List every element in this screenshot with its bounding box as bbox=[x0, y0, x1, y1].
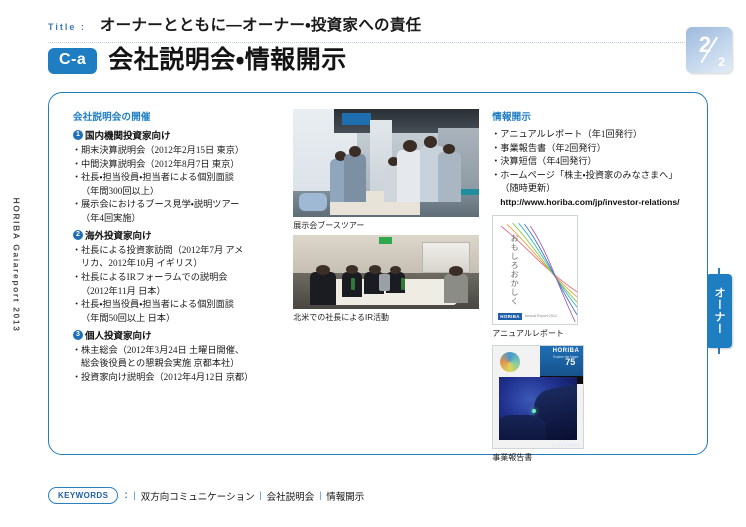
list-item: 中間決算説明会（2012年8月7日 東京） bbox=[73, 158, 285, 171]
group-title: 海外投資家向け bbox=[85, 228, 152, 242]
heading-row: C-a 会社説明会・情報開示 bbox=[48, 48, 347, 74]
title-row: Title : オーナーとともに―オーナー・投資家への責任 bbox=[48, 18, 421, 34]
list-item: （2012年11月 日本） bbox=[73, 285, 285, 298]
list-item: 社長による投資家訪問（2012年7月 アメ bbox=[73, 244, 285, 257]
list-item: アニュアルレポート（年1回発行） bbox=[492, 128, 689, 141]
list-item: 決算短信（年4回発行） bbox=[492, 155, 689, 168]
list-item: 社長・担当役員・担当者による個別面談 bbox=[73, 298, 285, 311]
keyword-item[interactable]: 双方向コミュニケーション bbox=[141, 489, 255, 503]
annual-report-cover-text: おもしろおかしく bbox=[509, 234, 518, 306]
keyword-item[interactable]: 会社説明会 bbox=[267, 489, 315, 503]
spine-publication-label: HORIBA Gaiareport 2013 bbox=[8, 190, 26, 340]
briefing-group-heading: 3個人投資家向け bbox=[73, 328, 285, 342]
list-item: ホームページ「株主・投資家のみなさまへ」（随時更新） bbox=[492, 169, 689, 195]
anniversary-number: 75 bbox=[565, 357, 575, 367]
group-number-badge: 2 bbox=[73, 230, 83, 240]
list-item: 社長によるIRフォーラムでの説明会 bbox=[73, 271, 285, 284]
keyword-separator: | bbox=[260, 491, 262, 501]
right-section-title: 情報開示 bbox=[492, 109, 689, 123]
title-label: Title : bbox=[48, 22, 86, 34]
business-report-footer-note: 株主各位 事業報告書 bbox=[551, 443, 579, 447]
keyword-separator: | bbox=[319, 491, 321, 501]
cover-landscape-photo bbox=[499, 377, 577, 440]
list-item: 事業報告書（年2回発行） bbox=[492, 142, 689, 155]
column-company-briefings: 会社説明会の開催 1国内機関投資家向け期末決算説明会（2012年2月15日 東京… bbox=[73, 109, 285, 444]
column-photos: 展示会ブースツアー bbox=[285, 109, 480, 444]
annual-report-cover-image: おもしろおかしく HORIBA Annual Report 2012 bbox=[492, 215, 578, 325]
page-total: 2 bbox=[718, 55, 725, 69]
list-item: リカ、2012年10月 イギリス） bbox=[73, 257, 285, 270]
list-item: 総会後役員との懇親会実施 京都本社） bbox=[73, 357, 285, 370]
group-title: 個人投資家向け bbox=[85, 328, 152, 342]
section-badge: C-a bbox=[48, 48, 97, 74]
briefing-item-list: 株主総会（2012年3月24日 土曜日開催、総会後役員との懇親会実施 京都本社）… bbox=[73, 344, 285, 384]
photo-caption-booth-tour: 展示会ブースツアー bbox=[293, 220, 480, 231]
group-number-badge: 3 bbox=[73, 330, 83, 340]
page-title: オーナーとともに―オーナー・投資家への責任 bbox=[100, 18, 422, 34]
investor-relations-url[interactable]: http://www.horiba.com/jp/investor-relati… bbox=[500, 197, 689, 207]
list-item: （年間50回以上 日本） bbox=[73, 312, 285, 325]
briefing-group-heading: 1国内機関投資家向け bbox=[73, 128, 285, 142]
list-item: 株主総会（2012年3月24日 土曜日開催、 bbox=[73, 344, 285, 357]
annual-report-cover-tag: Annual Report 2012 bbox=[525, 314, 557, 318]
horiba-logo: HORIBA bbox=[498, 313, 522, 320]
exhibition-booth-tour-photo bbox=[293, 109, 479, 217]
section-heading: 会社説明会・情報開示 bbox=[108, 48, 347, 73]
list-item: 期末決算説明会（2012年2月15日 東京） bbox=[73, 144, 285, 157]
cover-caption-business-report: 事業報告書 bbox=[492, 452, 689, 463]
briefing-groups: 1国内機関投資家向け期末決算説明会（2012年2月15日 東京）中間決算説明会（… bbox=[73, 128, 285, 384]
keywords-row: KEYWORDS : |双方向コミュニケーション|会社説明会|情報開示 bbox=[48, 487, 364, 504]
content-panel: 会社説明会の開催 1国内機関投資家向け期末決算説明会（2012年2月15日 東京… bbox=[48, 92, 708, 455]
briefing-group-heading: 2海外投資家向け bbox=[73, 228, 285, 242]
north-america-ir-meeting-photo bbox=[293, 235, 479, 309]
keyword-separator: | bbox=[134, 491, 136, 501]
annual-report-cover-logo: HORIBA Annual Report 2012 bbox=[498, 313, 557, 320]
keywords-list: |双方向コミュニケーション|会社説明会|情報開示 bbox=[134, 489, 365, 503]
list-item: （年4回実施） bbox=[73, 212, 285, 225]
briefing-item-list: 社長による投資家訪問（2012年7月 アメリカ、2012年10月 イギリス）社長… bbox=[73, 244, 285, 325]
side-tab-label: オーナー bbox=[711, 287, 727, 335]
cover-block-business-report: HORIBA Explore the future 75 株主各位 事業報告書 … bbox=[492, 345, 689, 463]
report-page: HORIBA Gaiareport 2013 Title : オーナーとともに―… bbox=[0, 0, 746, 527]
list-item: 社長・担当役員・担当者による個別面談 bbox=[73, 171, 285, 184]
list-item: （年間300回以上） bbox=[73, 185, 285, 198]
cover-caption-annual-report: アニュアルレポート bbox=[492, 328, 689, 339]
cover-block-annual-report: おもしろおかしく HORIBA Annual Report 2012 アニュアル… bbox=[492, 215, 689, 339]
title-divider bbox=[48, 42, 690, 43]
horiba-logo: HORIBA bbox=[553, 348, 580, 354]
group-title: 国内機関投資家向け bbox=[85, 128, 171, 142]
disclosure-list: アニュアルレポート（年1回発行）事業報告書（年2回発行）決算短信（年4回発行）ホ… bbox=[492, 128, 689, 195]
column-disclosure: 情報開示 アニュアルレポート（年1回発行）事業報告書（年2回発行）決算短信（年4… bbox=[480, 109, 689, 444]
page-number-chip: 2 2 bbox=[686, 27, 732, 73]
list-item: 展示会におけるブース見学・説明ツアー bbox=[73, 198, 285, 211]
spine-text: HORIBA Gaiareport 2013 bbox=[12, 197, 22, 332]
keywords-pill: KEYWORDS bbox=[48, 487, 118, 504]
keyword-item[interactable]: 情報開示 bbox=[326, 489, 364, 503]
photo-caption-ir-meeting: 北米での社長によるIR活動 bbox=[293, 312, 480, 323]
business-report-cover-image: HORIBA Explore the future 75 株主各位 事業報告書 bbox=[492, 345, 584, 449]
anniversary-emblem-icon bbox=[500, 352, 520, 372]
photo-block-ir-meeting: 北米での社長によるIR活動 bbox=[293, 235, 480, 323]
group-number-badge: 1 bbox=[73, 130, 83, 140]
left-section-title: 会社説明会の開催 bbox=[73, 109, 285, 123]
list-item: 投資家向け説明会（2012年4月12日 京都） bbox=[73, 371, 285, 384]
keywords-colon: : bbox=[124, 490, 127, 501]
side-tab-owner[interactable]: オーナー bbox=[706, 274, 732, 348]
briefing-item-list: 期末決算説明会（2012年2月15日 東京）中間決算説明会（2012年8月7日 … bbox=[73, 144, 285, 225]
photo-block-booth-tour: 展示会ブースツアー bbox=[293, 109, 480, 231]
